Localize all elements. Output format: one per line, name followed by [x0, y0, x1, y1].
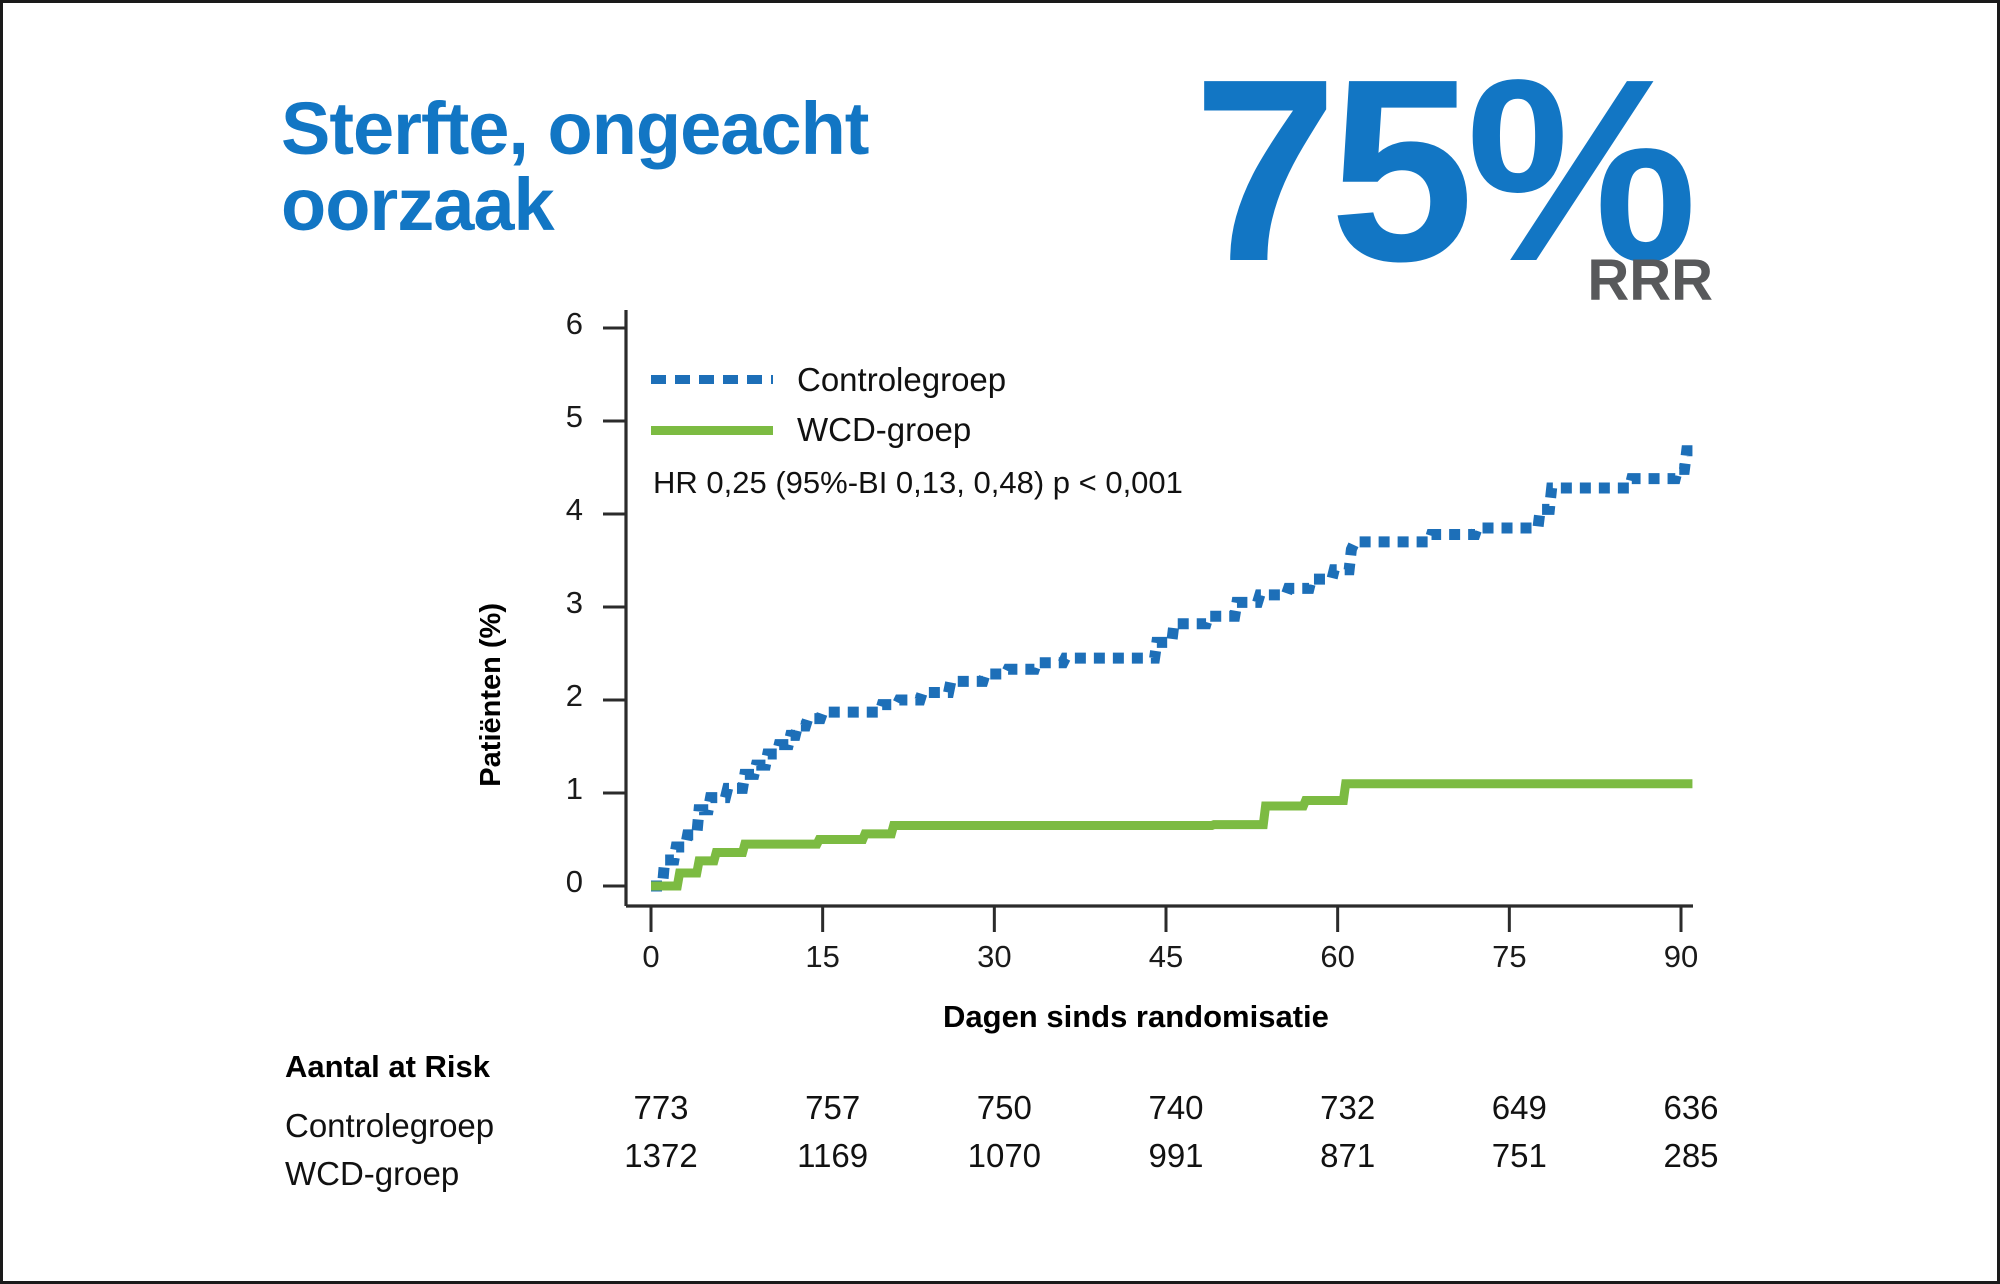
at-risk-value: 285: [1636, 1137, 1746, 1175]
at-risk-value: 732: [1293, 1089, 1403, 1127]
at-risk-values: 773757750740732649636: [537, 1089, 1705, 1137]
at-risk-value: 1372: [606, 1137, 716, 1175]
chart-legend: Controlegroep WCD-groep: [651, 355, 1171, 455]
x-tick-label: 30: [959, 939, 1029, 975]
legend-item-control: Controlegroep: [651, 355, 1171, 405]
series-control: [651, 451, 1692, 886]
at-risk-value: 751: [1464, 1137, 1574, 1175]
y-tick-label: 0: [543, 864, 583, 900]
at-risk-row-label: Controlegroep: [285, 1107, 537, 1145]
x-tick-label: 0: [616, 939, 686, 975]
y-tick-label: 6: [543, 306, 583, 342]
at-risk-value: 636: [1636, 1089, 1746, 1127]
x-tick-label: 75: [1474, 939, 1544, 975]
at-risk-value: 757: [778, 1089, 888, 1127]
x-tick-label: 15: [788, 939, 858, 975]
y-tick-label: 1: [543, 771, 583, 807]
at-risk-value: 1169: [778, 1137, 888, 1175]
series-wcd: [651, 784, 1692, 886]
at-risk-value: 773: [606, 1089, 716, 1127]
at-risk-value: 1070: [949, 1137, 1059, 1175]
legend-swatch-solid-icon: [651, 426, 773, 435]
hazard-ratio-annotation: HR 0,25 (95%-BI 0,13, 0,48) p < 0,001: [653, 465, 1183, 501]
at-risk-row: Controlegroep773757750740732649636: [285, 1089, 1705, 1137]
at-risk-rows: Controlegroep773757750740732649636WCD-gr…: [285, 1089, 1705, 1185]
x-tick-label: 90: [1646, 939, 1716, 975]
x-tick-label: 60: [1303, 939, 1373, 975]
y-tick-label: 5: [543, 399, 583, 435]
legend-item-wcd: WCD-groep: [651, 405, 1171, 455]
infographic-page: Sterfte, ongeacht oorzaak 75% RRR Patiën…: [0, 0, 2000, 1284]
y-tick-label: 2: [543, 678, 583, 714]
legend-label-control: Controlegroep: [797, 361, 1006, 399]
at-risk-title: Aantal at Risk: [285, 1049, 1705, 1085]
y-tick-label: 3: [543, 585, 583, 621]
y-tick-label: 4: [543, 492, 583, 528]
at-risk-row-label: WCD-groep: [285, 1155, 537, 1193]
x-tick-label: 45: [1131, 939, 1201, 975]
at-risk-table: Aantal at Risk Controlegroep773757750740…: [285, 1049, 1705, 1185]
at-risk-value: 750: [949, 1089, 1059, 1127]
legend-label-wcd: WCD-groep: [797, 411, 971, 449]
at-risk-values: 137211691070991871751285: [537, 1137, 1705, 1185]
at-risk-value: 991: [1121, 1137, 1231, 1175]
at-risk-value: 740: [1121, 1089, 1231, 1127]
legend-swatch-dotted-icon: [651, 375, 773, 385]
at-risk-value: 649: [1464, 1089, 1574, 1127]
at-risk-value: 871: [1293, 1137, 1403, 1175]
